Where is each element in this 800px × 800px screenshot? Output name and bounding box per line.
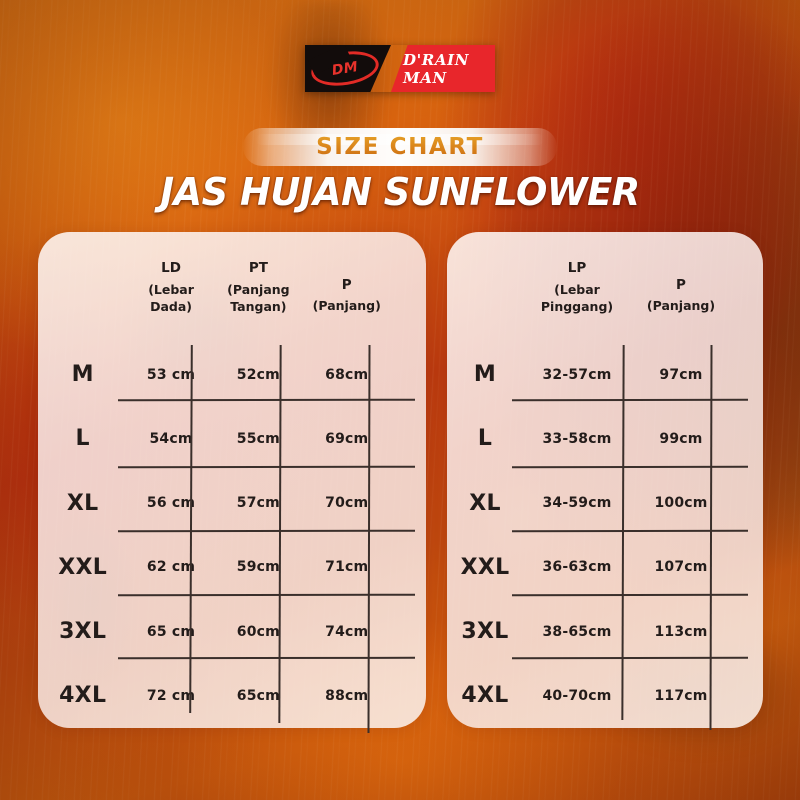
- header-full: (Panjang Tangan): [215, 281, 302, 316]
- row-lp: 32-57cm: [523, 342, 631, 406]
- header-cell-pt: PT (Panjang Tangan): [215, 232, 302, 342]
- table-header-row: LP (Lebar Pinggang) P (Panjang): [447, 232, 763, 342]
- header-abbr: P: [302, 276, 391, 295]
- jacket-size-panel: LD (Lebar Dada) PT (Panjang Tangan) P (P…: [38, 232, 426, 728]
- row-size: XXL: [38, 535, 127, 599]
- size-chart-badge: SIZE CHART: [243, 128, 557, 166]
- brand-logo: DM D'RAIN MAN: [305, 45, 495, 92]
- dm-swoosh-icon: DM: [309, 47, 381, 90]
- row-pt: 60cm: [215, 599, 302, 663]
- row-pt: 55cm: [215, 407, 302, 471]
- row-p: 68cm: [302, 342, 391, 406]
- jacket-size-table: LD (Lebar Dada) PT (Panjang Tangan) P (P…: [38, 232, 426, 728]
- row-pt: 52cm: [215, 342, 302, 406]
- table-header-row: LD (Lebar Dada) PT (Panjang Tangan) P (P…: [38, 232, 426, 342]
- row-p: 70cm: [302, 471, 391, 535]
- row-spacer: [731, 535, 763, 599]
- row-p: 99cm: [631, 407, 731, 471]
- table-row: M 32-57cm 97cm: [447, 342, 763, 406]
- row-spacer: [391, 407, 426, 471]
- row-p: 100cm: [631, 471, 731, 535]
- header-cell-spacer: [391, 232, 426, 342]
- row-size: XL: [447, 471, 523, 535]
- row-p: 117cm: [631, 664, 731, 728]
- row-size: 3XL: [447, 599, 523, 663]
- row-spacer: [731, 407, 763, 471]
- row-ld: 54cm: [127, 407, 214, 471]
- header-cell-p: P (Panjang): [631, 232, 731, 342]
- row-lp: 36-63cm: [523, 535, 631, 599]
- row-p: 97cm: [631, 342, 731, 406]
- row-size: 4XL: [447, 664, 523, 728]
- header-cell-spacer: [731, 232, 763, 342]
- row-spacer: [731, 471, 763, 535]
- header-full: (Lebar Pinggang): [523, 281, 631, 316]
- table-row: 4XL 40-70cm 117cm: [447, 664, 763, 728]
- row-lp: 38-65cm: [523, 599, 631, 663]
- row-spacer: [731, 664, 763, 728]
- table-row: 3XL 38-65cm 113cm: [447, 599, 763, 663]
- row-size: 4XL: [38, 664, 127, 728]
- logo-name-panel: D'RAIN MAN: [391, 45, 495, 92]
- row-spacer: [391, 599, 426, 663]
- row-spacer: [391, 664, 426, 728]
- table-row: XXL 36-63cm 107cm: [447, 535, 763, 599]
- row-spacer: [731, 342, 763, 406]
- brand-name: D'RAIN MAN: [403, 51, 495, 87]
- row-p: 71cm: [302, 535, 391, 599]
- logo-mark-text: DM: [331, 59, 360, 79]
- header-abbr: P: [631, 276, 731, 295]
- row-lp: 34-59cm: [523, 471, 631, 535]
- header-cell-p: P (Panjang): [302, 232, 391, 342]
- row-p: 113cm: [631, 599, 731, 663]
- table-row: XL 56 cm 57cm 70cm: [38, 471, 426, 535]
- row-p: 107cm: [631, 535, 731, 599]
- header-full: (Panjang): [302, 297, 391, 314]
- header-cell-size: [38, 232, 127, 342]
- row-p: 69cm: [302, 407, 391, 471]
- header-cell-size: [447, 232, 523, 342]
- row-ld: 53 cm: [127, 342, 214, 406]
- row-p: 88cm: [302, 664, 391, 728]
- table-row: XXL 62 cm 59cm 71cm: [38, 535, 426, 599]
- row-size: M: [38, 342, 127, 406]
- table-row: M 53 cm 52cm 68cm: [38, 342, 426, 406]
- row-pt: 65cm: [215, 664, 302, 728]
- header-full: (Lebar Dada): [127, 281, 214, 316]
- row-size: 3XL: [38, 599, 127, 663]
- row-p: 74cm: [302, 599, 391, 663]
- page-title: JAS HUJAN SUNFLOWER: [12, 170, 788, 214]
- pants-size-table: LP (Lebar Pinggang) P (Panjang) M 32-57c…: [447, 232, 763, 728]
- logo-mark-panel: DM: [305, 45, 391, 92]
- row-ld: 65 cm: [127, 599, 214, 663]
- header-abbr: LD: [127, 259, 214, 278]
- row-lp: 40-70cm: [523, 664, 631, 728]
- header-abbr: LP: [523, 259, 631, 278]
- row-pt: 59cm: [215, 535, 302, 599]
- row-size: L: [38, 407, 127, 471]
- row-spacer: [731, 599, 763, 663]
- header-cell-lp: LP (Lebar Pinggang): [523, 232, 631, 342]
- header-cell-ld: LD (Lebar Dada): [127, 232, 214, 342]
- row-ld: 62 cm: [127, 535, 214, 599]
- row-size: L: [447, 407, 523, 471]
- table-row: L 33-58cm 99cm: [447, 407, 763, 471]
- row-spacer: [391, 342, 426, 406]
- row-spacer: [391, 535, 426, 599]
- table-row: 3XL 65 cm 60cm 74cm: [38, 599, 426, 663]
- header-full: (Panjang): [631, 297, 731, 314]
- table-row: L 54cm 55cm 69cm: [38, 407, 426, 471]
- row-size: M: [447, 342, 523, 406]
- badge-label: SIZE CHART: [316, 134, 484, 160]
- row-pt: 57cm: [215, 471, 302, 535]
- row-size: XXL: [447, 535, 523, 599]
- table-row: 4XL 72 cm 65cm 88cm: [38, 664, 426, 728]
- row-size: XL: [38, 471, 127, 535]
- pants-size-panel: LP (Lebar Pinggang) P (Panjang) M 32-57c…: [447, 232, 763, 728]
- table-row: XL 34-59cm 100cm: [447, 471, 763, 535]
- header-abbr: PT: [215, 259, 302, 278]
- row-lp: 33-58cm: [523, 407, 631, 471]
- size-chart-page: DM D'RAIN MAN SIZE CHART JAS HUJAN SUNFL…: [0, 0, 800, 800]
- row-spacer: [391, 471, 426, 535]
- row-ld: 72 cm: [127, 664, 214, 728]
- row-ld: 56 cm: [127, 471, 214, 535]
